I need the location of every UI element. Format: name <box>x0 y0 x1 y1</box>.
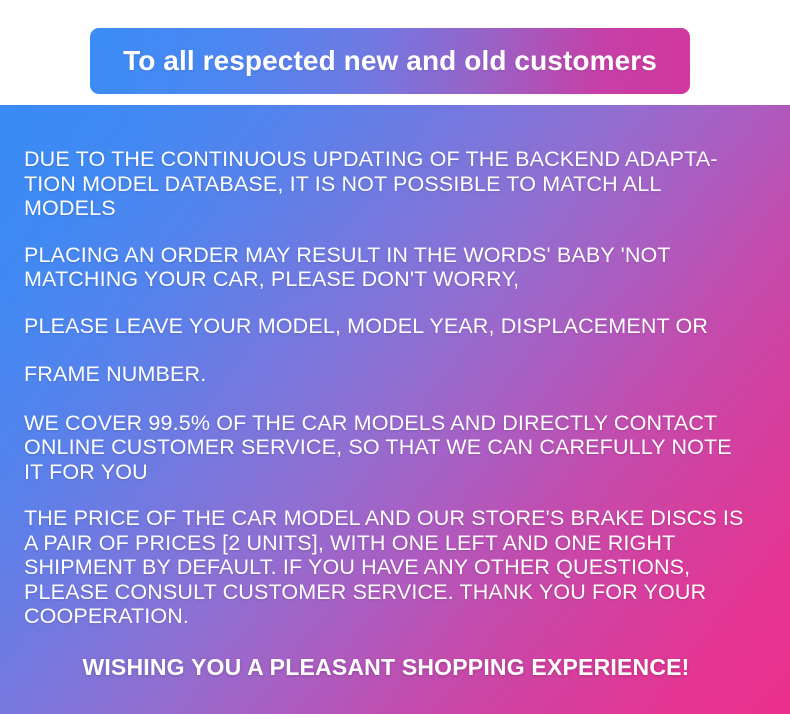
title-banner: To all respected new and old customers <box>90 28 690 94</box>
notice-paragraph-1: DUE TO THE CONTINUOUS UPDATING OF THE BA… <box>24 147 772 221</box>
gradient-body-panel: DUE TO THE CONTINUOUS UPDATING OF THE BA… <box>0 105 790 714</box>
header-white-strip: To all respected new and old customers <box>0 0 790 105</box>
notice-text-block: DUE TO THE CONTINUOUS UPDATING OF THE BA… <box>24 147 772 680</box>
notice-paragraph-6: THE PRICE OF THE CAR MODEL AND OUR STORE… <box>24 506 772 629</box>
notice-paragraph-5: WE COVER 99.5% OF THE CAR MODELS AND DIR… <box>24 411 772 485</box>
closing-line-label: WISHING YOU A PLEASANT SHOPPING EXPERIEN… <box>82 655 689 680</box>
notice-paragraph-2: PLACING AN ORDER MAY RESULT IN THE WORDS… <box>24 243 772 292</box>
notice-paragraph-3: PLEASE LEAVE YOUR MODEL, MODEL YEAR, DIS… <box>24 314 772 339</box>
notice-paragraph-4: FRAME NUMBER. <box>24 362 772 387</box>
promotional-notice-poster: To all respected new and old customers D… <box>0 0 790 714</box>
title-banner-label: To all respected new and old customers <box>123 47 657 75</box>
closing-line-wrapper: WISHING YOU A PLEASANT SHOPPING EXPERIEN… <box>24 655 772 680</box>
